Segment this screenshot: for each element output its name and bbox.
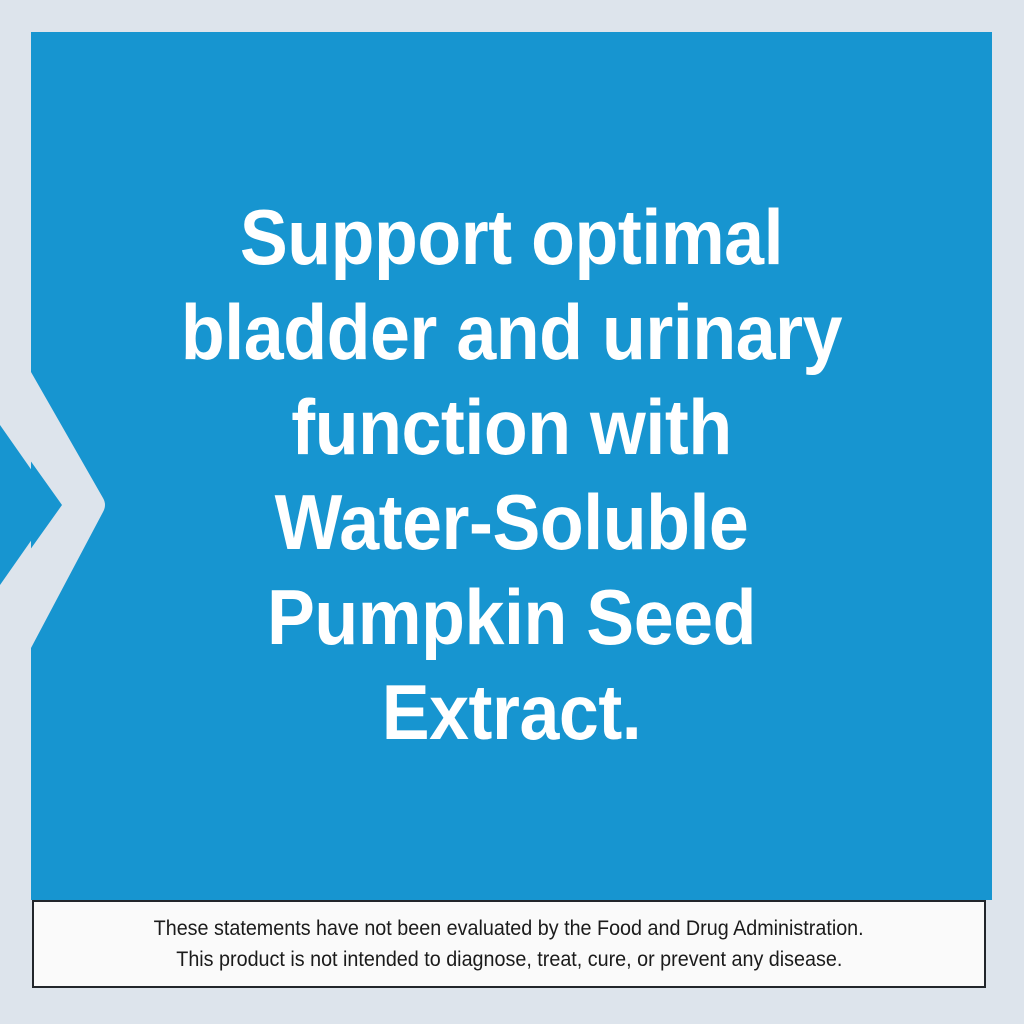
promo-graphic: Support optimal bladder and urinary func… — [0, 0, 1024, 1024]
headline-line-2: bladder and urinary — [69, 285, 953, 380]
disclaimer-line-1: These statements have not been evaluated… — [154, 913, 864, 944]
headline-line-6: Extract. — [69, 665, 953, 760]
headline-line-5: Pumpkin Seed — [69, 570, 953, 665]
headline-line-3: function with — [69, 380, 953, 475]
fda-disclaimer-box: These statements have not been evaluated… — [32, 900, 986, 988]
headline-line-1: Support optimal — [69, 190, 953, 285]
headline-line-4: Water-Soluble — [69, 475, 953, 570]
disclaimer-line-2: This product is not intended to diagnose… — [176, 944, 842, 975]
page-title: Support optimal bladder and urinary func… — [69, 190, 953, 760]
